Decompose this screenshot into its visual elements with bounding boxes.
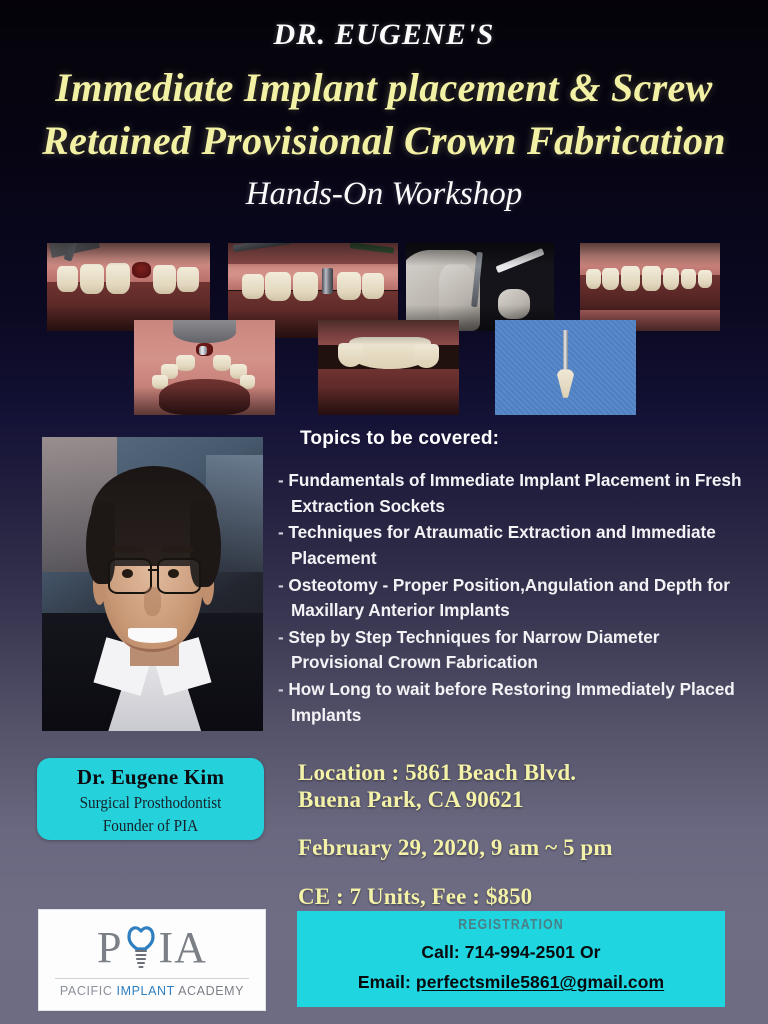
gallery-photo-screw-retained-provisional-on-drape xyxy=(495,320,636,415)
gallery-photo-gloved-hands-instrument xyxy=(406,243,554,331)
logo-word-implant: IMPLANT xyxy=(117,984,179,998)
list-item: - Techniques for Atraumatic Extraction a… xyxy=(278,520,756,571)
event-details: Location : 5861 Beach Blvd. Buena Park, … xyxy=(298,760,748,911)
logo-letter-p: P xyxy=(97,926,122,970)
logo-divider xyxy=(55,978,249,979)
registration-phone[interactable]: Call: 714-994-2501 Or xyxy=(297,942,725,963)
bullet-dash: - xyxy=(278,470,284,490)
bullet-dash: - xyxy=(278,679,284,699)
bullet-dash: - xyxy=(278,575,284,595)
list-item: - Fundamentals of Immediate Implant Plac… xyxy=(278,468,756,519)
topic-text: Techniques for Atraumatic Extraction and… xyxy=(288,522,715,568)
topic-text: How Long to wait before Restoring Immedi… xyxy=(288,679,734,725)
logo-word-pacific: PACIFIC xyxy=(60,984,117,998)
logo-wordmark: PACIFIC IMPLANT ACADEMY xyxy=(60,984,244,998)
dr-eugene-kim-portrait xyxy=(42,437,263,731)
bullet-dash: - xyxy=(278,627,284,647)
gallery-photo-final-restoration-smile xyxy=(580,243,720,331)
location-line-1: Location : 5861 Beach Blvd. xyxy=(298,760,748,787)
logo-letter-ia: IA xyxy=(159,926,207,970)
date-time: February 29, 2020, 9 am ~ 5 pm xyxy=(298,835,748,862)
location-line-2: Buena Park, CA 90621 xyxy=(298,787,748,814)
implant-tooth-icon xyxy=(124,923,158,973)
bullet-dash: - xyxy=(278,522,284,542)
title-block: DR. EUGENE'S Immediate Implant placement… xyxy=(0,0,768,211)
list-item: - How Long to wait before Restoring Imme… xyxy=(278,677,756,728)
logo-mark: P IA xyxy=(97,922,207,974)
topic-text: Fundamentals of Immediate Implant Placem… xyxy=(288,470,741,516)
email-label: Email: xyxy=(358,972,416,992)
gallery-photo-provisional-crown-intraoral xyxy=(318,320,459,415)
registration-email-row: Email: perfectsmile5861@gmail.com xyxy=(297,972,725,993)
title-line-2: Retained Provisional Crown Fabrication xyxy=(0,115,768,168)
speaker-credential-1: Surgical Prosthodontist xyxy=(46,793,255,813)
speaker-credentials-badge: Dr. Eugene Kim Surgical Prosthodontist F… xyxy=(37,758,264,840)
email-link[interactable]: perfectsmile5861@gmail.com xyxy=(416,972,664,992)
topics-heading: Topics to be covered: xyxy=(300,428,756,450)
ce-fee: CE : 7 Units, Fee : $850 xyxy=(298,884,748,911)
speaker-credential-2: Founder of PIA xyxy=(46,816,255,836)
logo-word-academy: ACADEMY xyxy=(178,984,244,998)
gallery-photo-extraction-socket-anterior xyxy=(47,243,210,331)
topic-text: Step by Step Techniques for Narrow Diame… xyxy=(288,627,659,673)
list-item: - Osteotomy - Proper Position,Angulation… xyxy=(278,573,756,624)
registration-box: REGISTRATION Call: 714-994-2501 Or Email… xyxy=(297,911,725,1007)
speaker-name: Dr. Eugene Kim xyxy=(37,765,264,790)
list-item: - Step by Step Techniques for Narrow Dia… xyxy=(278,625,756,676)
subtitle-text: Hands-On Workshop xyxy=(0,178,768,211)
page-title: Immediate Implant placement & Screw Reta… xyxy=(0,62,768,168)
topic-text: Osteotomy - Proper Position,Angulation a… xyxy=(288,575,729,621)
pia-logo: P IA PACIFIC IMPLANT ACADEMY xyxy=(38,909,266,1011)
topics-list: - Fundamentals of Immediate Implant Plac… xyxy=(278,468,756,728)
gallery-photo-occlusal-view-implant xyxy=(134,320,275,415)
registration-title: REGISTRATION xyxy=(327,917,695,933)
workshop-poster: DR. EUGENE'S Immediate Implant placement… xyxy=(0,0,768,1024)
title-line-1: Immediate Implant placement & Screw xyxy=(0,62,768,115)
clinical-photo-gallery xyxy=(0,236,768,421)
eyebrow-text: DR. EUGENE'S xyxy=(0,20,768,50)
topics-section: Topics to be covered: - Fundamentals of … xyxy=(278,428,756,729)
